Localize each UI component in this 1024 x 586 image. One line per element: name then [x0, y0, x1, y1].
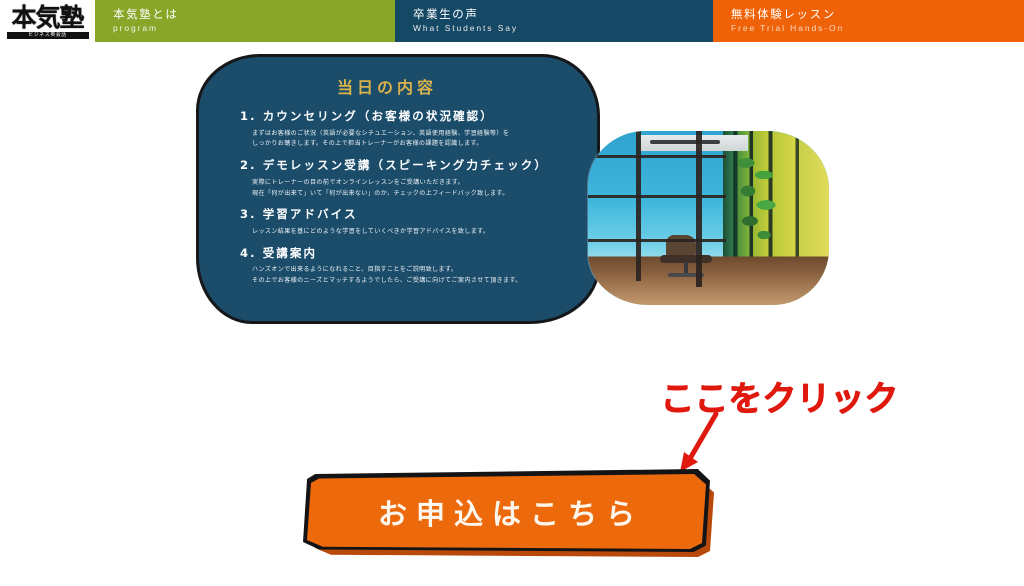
content-item-title: カウンセリング（お客様の状況確認） — [263, 109, 494, 123]
content-item-body-line: しっかりお聴きします。その上で担当トレーナーがお客様の課題を認識します。 — [252, 139, 552, 150]
content-item-body-line: レッスン結果を基にどのような学習をしていくべきか学習アドバイスを致します。 — [252, 227, 552, 238]
content-item-heading: 2. デモレッスン受講（スピーキング力チェック） — [240, 159, 574, 173]
nav-item-program-en: program — [113, 23, 395, 35]
content-item-body-line: 実際にトレーナーの目の前でオンラインレッスンをご受講いただきます。 — [252, 178, 552, 189]
content-item-body: ハンズオンで出来るようになれること、目指すことをご説明致します。 その上でお客様… — [252, 265, 552, 286]
content-item: 2. デモレッスン受講（スピーキング力チェック） 実際にトレーナーの目の前でオン… — [240, 159, 574, 199]
content-item-body: まずはお客様のご状況（英語が必要なシチュエーション、英語使用経験、学習経験等）を… — [252, 129, 552, 150]
nav-item-free-trial-ja: 無料体験レッスン — [731, 7, 1024, 21]
photo-window-transom — [588, 239, 726, 242]
photo-window-transom — [588, 155, 726, 158]
program-content-card: 当日の内容 1. カウンセリング（お客様の状況確認） まずはお客様のご状況（英語… — [196, 54, 600, 324]
nav-item-program-ja: 本気塾とは — [113, 7, 395, 21]
content-item-body: レッスン結果を基にどのような学習をしていくべきか学習アドバイスを致します。 — [252, 227, 552, 238]
content-item: 3. 学習アドバイス レッスン結果を基にどのような学習をしていくべきか学習アドバ… — [240, 208, 574, 237]
content-item-title: 受講案内 — [263, 246, 317, 260]
photo-window-transom — [588, 195, 726, 198]
content-item-number: 1. — [240, 109, 257, 123]
content-item: 4. 受講案内 ハンズオンで出来るようになれること、目指すことをご説明致します。… — [240, 247, 574, 287]
card-title: 当日の内容 — [240, 74, 574, 98]
content-item-title: 学習アドバイス — [263, 207, 358, 221]
content-item-heading: 3. 学習アドバイス — [240, 208, 574, 222]
content-item-number: 3. — [240, 207, 257, 221]
nav-item-students[interactable]: 卒業生の声 What Students Say — [395, 0, 713, 42]
nav-item-students-en: What Students Say — [413, 23, 713, 35]
content-item-body-line: 現在「何が出来て」いて「何が出来ない」のか、チェックの上フィードバック致します。 — [252, 189, 552, 200]
photo-plant — [738, 153, 778, 249]
logo-main-text: 本気塾 — [11, 5, 83, 30]
content-item: 1. カウンセリング（お客様の状況確認） まずはお客様のご状況（英語が必要なシチ… — [240, 110, 574, 150]
apply-button-label: お申込はこちら — [369, 491, 644, 533]
office-photo — [588, 131, 829, 305]
nav-item-free-trial[interactable]: 無料体験レッスン Free Trial Hands-On — [713, 0, 1024, 42]
content-item-body-line: まずはお客様のご状況（英語が必要なシチュエーション、英語使用経験、学習経験等）を — [252, 129, 552, 140]
content-item-number: 4. — [240, 246, 257, 260]
apply-cta-wrapper: お申込はこちら — [307, 474, 706, 549]
apply-button[interactable]: お申込はこちら — [307, 474, 706, 549]
nav-item-program[interactable]: 本気塾とは program — [95, 0, 395, 42]
content-item-number: 2. — [240, 158, 257, 172]
photo-window-mullion — [636, 131, 641, 281]
nav-item-students-ja: 卒業生の声 — [413, 7, 713, 21]
content-item-heading: 4. 受講案内 — [240, 247, 574, 261]
content-item-title: デモレッスン受講（スピーキング力チェック） — [263, 158, 548, 172]
content-item-body: 実際にトレーナーの目の前でオンラインレッスンをご受講いただきます。 現在「何が出… — [252, 178, 552, 199]
site-header: 本気塾 ビジネス英会話 本気塾とは program 卒業生の声 What Stu… — [0, 0, 1024, 42]
nav-item-free-trial-en: Free Trial Hands-On — [731, 23, 1024, 35]
content-item-heading: 1. カウンセリング（お客様の状況確認） — [240, 110, 574, 124]
content-item-body-line: ハンズオンで出来るようになれること、目指すことをご説明致します。 — [252, 265, 552, 276]
logo-sub-text: ビジネス英会話 — [7, 32, 89, 40]
photo-ceiling-light — [650, 140, 720, 144]
content-item-body-line: その上でお客様のニーズとマッチするようでしたら、ご受講に向けてご案内させて頂きま… — [252, 276, 552, 287]
site-logo[interactable]: 本気塾 ビジネス英会話 — [0, 0, 95, 42]
